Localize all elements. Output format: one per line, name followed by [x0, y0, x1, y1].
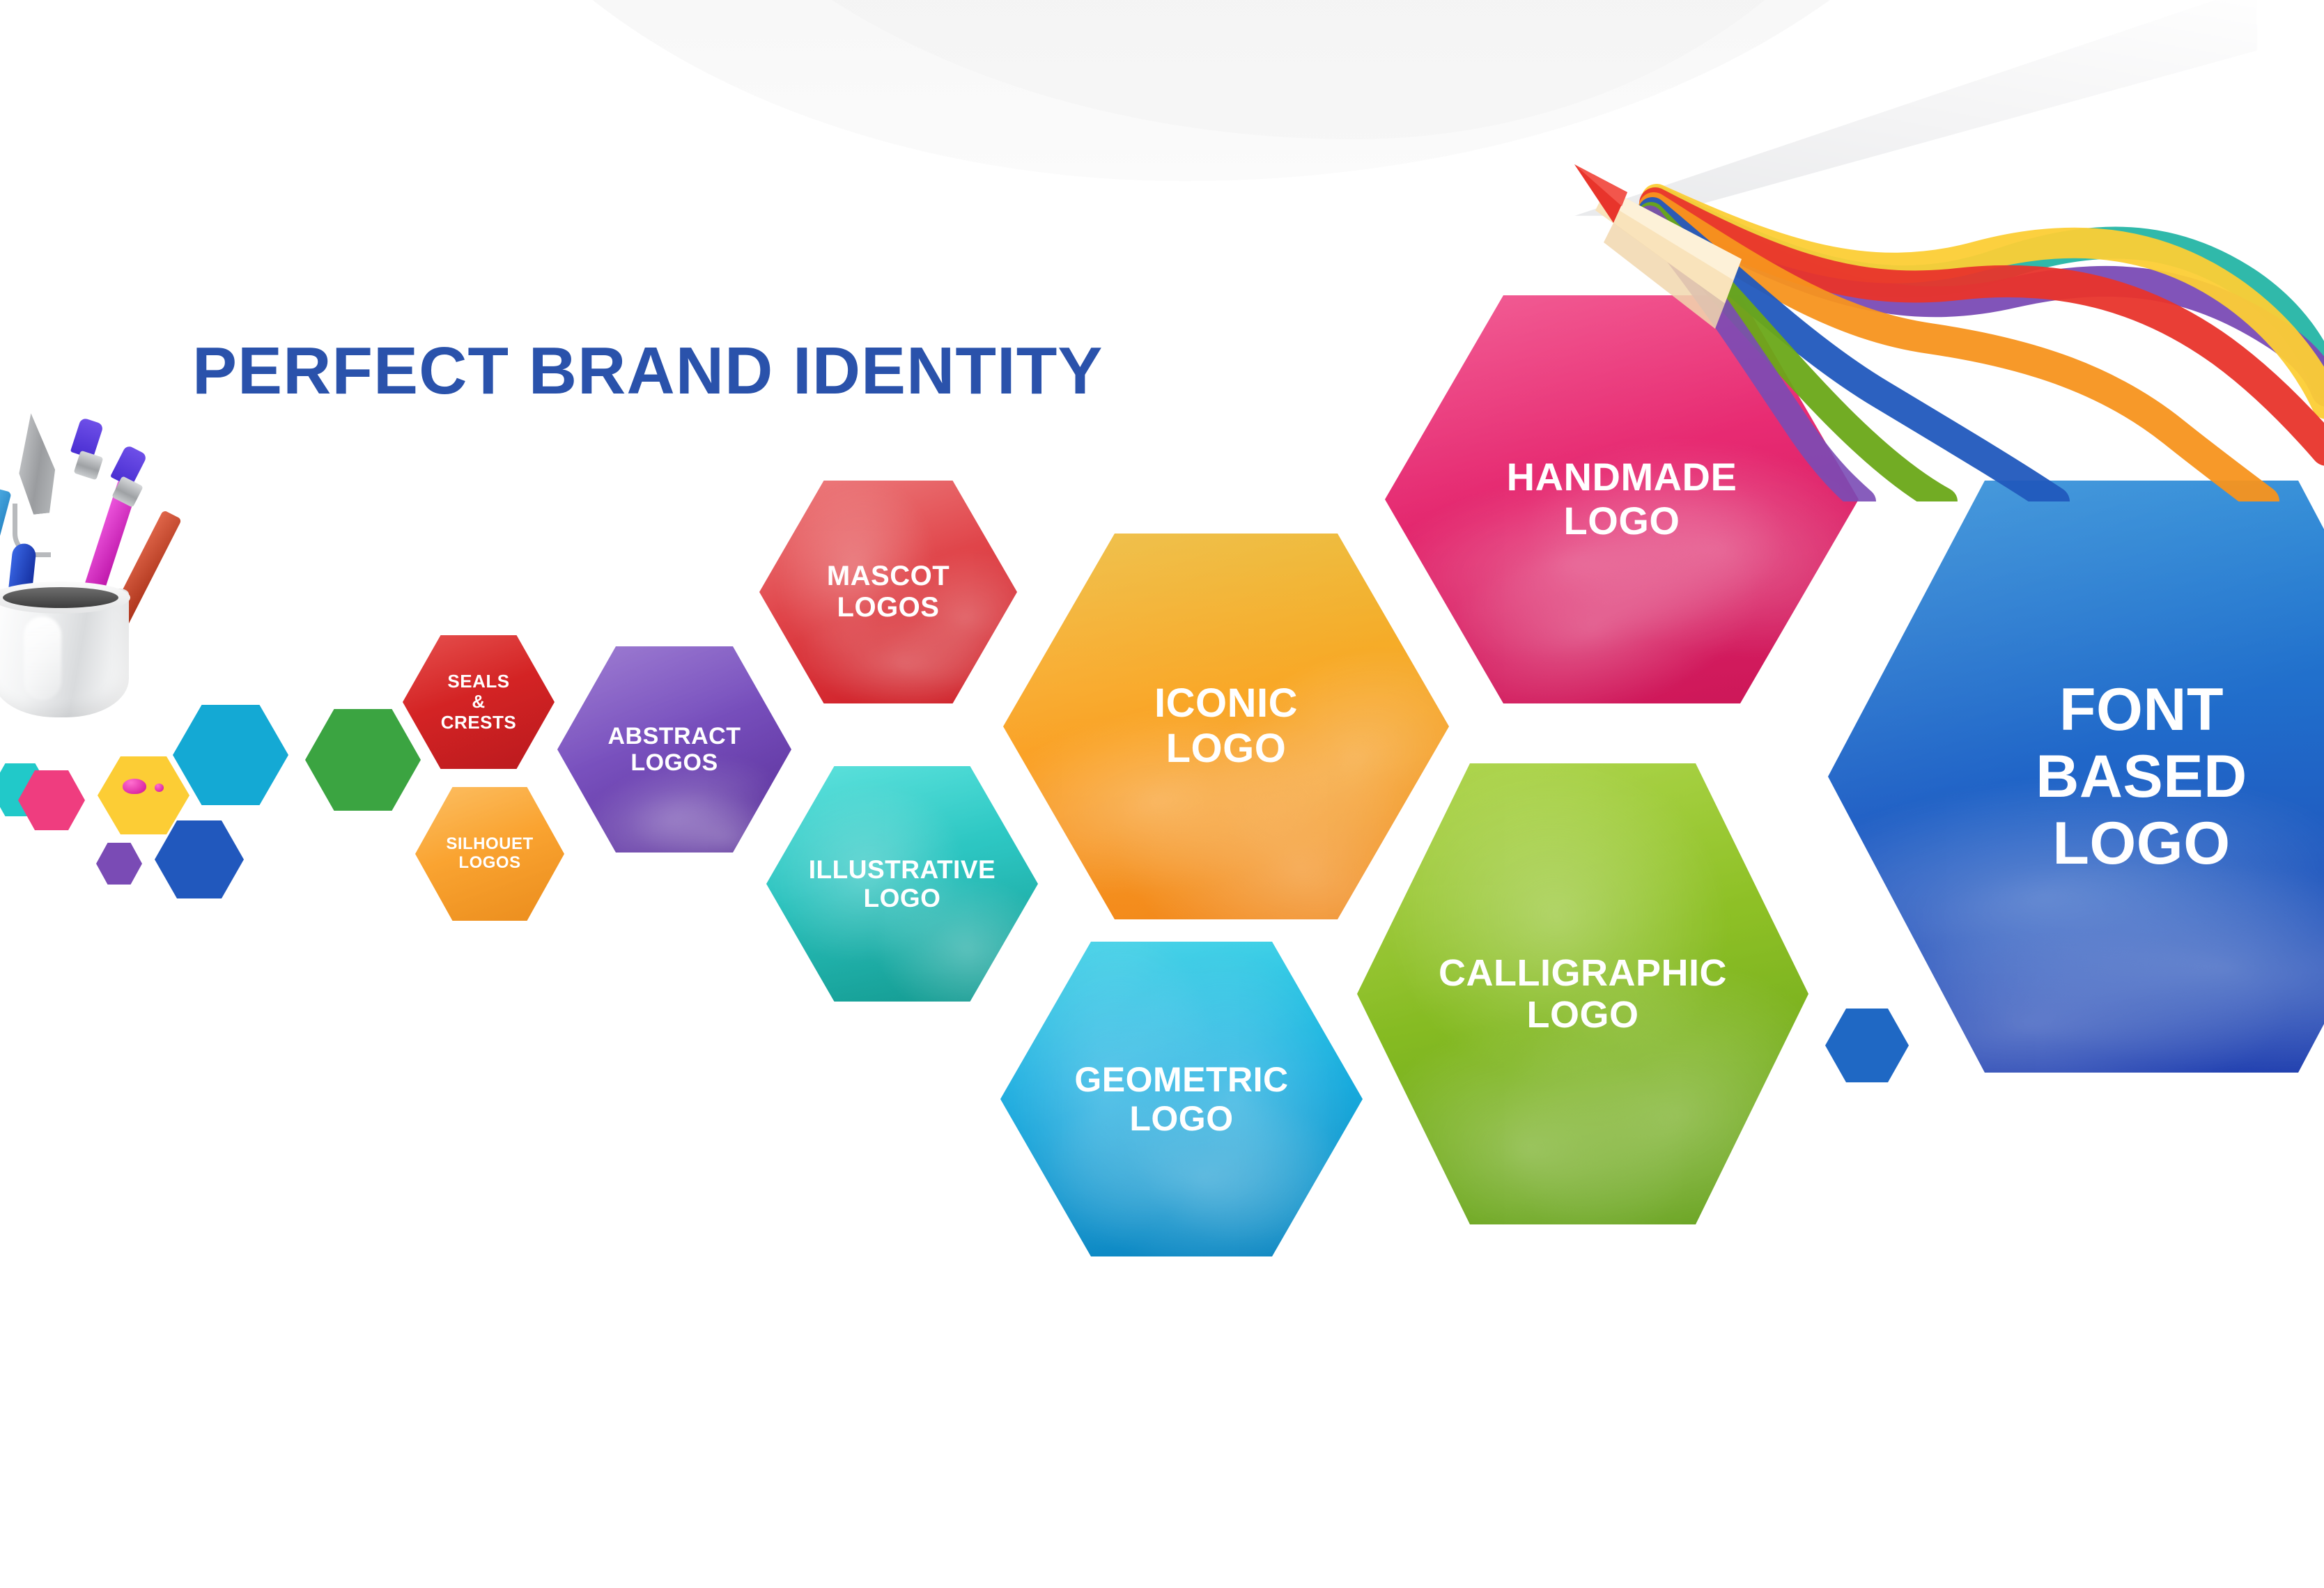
paper-fold — [1560, 0, 2257, 216]
hexagon-font-based-logo[interactable]: FONT BASED LOGO — [1828, 481, 2324, 1073]
label-line: CALLIGRAPHIC — [1439, 952, 1727, 994]
pencil-cup-opening — [3, 587, 118, 608]
paint-drop — [123, 779, 146, 794]
hexagon-iconic-logo[interactable]: ICONIC LOGO — [1003, 534, 1449, 919]
label-line: GEOMETRIC — [1074, 1060, 1288, 1099]
label-line: BASED — [2036, 743, 2247, 810]
hexagon-seals-and-crests[interactable]: SEALS & CRESTS — [403, 635, 555, 769]
hexagon-label-font-based-logo: FONT BASED LOGO — [1998, 676, 2285, 878]
hexagon-label-mascot-logos: MASCOT LOGOS — [812, 561, 966, 623]
hexagon-illustrative-logo[interactable]: ILLUSTRATIVE LOGO — [766, 766, 1038, 1002]
paint-drop-small — [155, 784, 164, 792]
label-line: LOGO — [1154, 726, 1298, 772]
hexagon-calligraphic-logo[interactable]: CALLIGRAPHIC LOGO — [1357, 763, 1808, 1224]
label-line: SEALS — [441, 671, 516, 692]
label-line: LOGO — [1507, 499, 1737, 543]
hexagon-mascot-logos[interactable]: MASCOT LOGOS — [759, 481, 1017, 703]
hexagon-label-seals-and-crests: SEALS & CRESTS — [432, 671, 526, 732]
label-line: MASCOT — [827, 561, 950, 592]
label-line: LOGO — [1439, 994, 1727, 1036]
label-line: ICONIC — [1154, 681, 1298, 726]
hexagon-silhouet-logos[interactable]: SILHOUET LOGOS — [415, 787, 564, 921]
label-line: LOGOS — [446, 854, 533, 873]
label-line: LOGOS — [608, 749, 741, 776]
mini-hexagon-cyan — [173, 705, 288, 805]
mini-hexagon-blue — [155, 820, 244, 898]
label-line: SILHOUET — [446, 835, 533, 854]
pencil-cup-highlight — [24, 616, 61, 700]
hexagon-label-abstract-logos: ABSTRACT LOGOS — [594, 723, 754, 776]
hexagon-label-silhouet-logos: SILHOUET LOGOS — [437, 835, 543, 873]
mini-hexagon-purple — [96, 843, 142, 885]
hexagon-label-illustrative-logo: ILLUSTRATIVE LOGO — [792, 855, 1012, 913]
label-line: LOGO — [809, 884, 996, 912]
background-swoosh — [418, 0, 2020, 181]
label-line: FONT — [2036, 676, 2247, 743]
label-line: ABSTRACT — [608, 723, 741, 749]
hexagon-label-handmade-logo: HANDMADE LOGO — [1478, 456, 1765, 543]
label-line: LOGO — [2036, 810, 2247, 877]
infographic-canvas: PERFECT BRAND IDENTITY — [0, 0, 2324, 1588]
hexagon-label-iconic-logo: ICONIC LOGO — [1128, 681, 1325, 772]
label-line: & — [441, 692, 516, 712]
label-line: CRESTS — [441, 713, 516, 733]
mini-hexagon-green — [305, 709, 421, 811]
label-line: HANDMADE — [1507, 456, 1737, 499]
hexagon-geometric-logo[interactable]: GEOMETRIC LOGO — [1000, 942, 1363, 1256]
background-swoosh-two — [613, 0, 1937, 139]
palette-knife — [13, 412, 60, 516]
art-supplies-illustration — [0, 407, 169, 731]
hexagon-handmade-logo[interactable]: HANDMADE LOGO — [1385, 295, 1859, 703]
hexagon-abstract-logos[interactable]: ABSTRACT LOGOS — [557, 646, 791, 853]
hexagon-label-geometric-logo: GEOMETRIC LOGO — [1053, 1060, 1310, 1138]
magenta-brush-ferrule — [74, 451, 104, 481]
hexagon-label-calligraphic-logo: CALLIGRAPHIC LOGO — [1411, 952, 1754, 1036]
label-line: ILLUSTRATIVE — [809, 855, 996, 884]
mini-hexagon-blue-right — [1825, 1009, 1909, 1082]
page-title: PERFECT BRAND IDENTITY — [192, 338, 1103, 405]
label-line: LOGOS — [827, 592, 950, 623]
label-line: LOGO — [1074, 1099, 1288, 1138]
